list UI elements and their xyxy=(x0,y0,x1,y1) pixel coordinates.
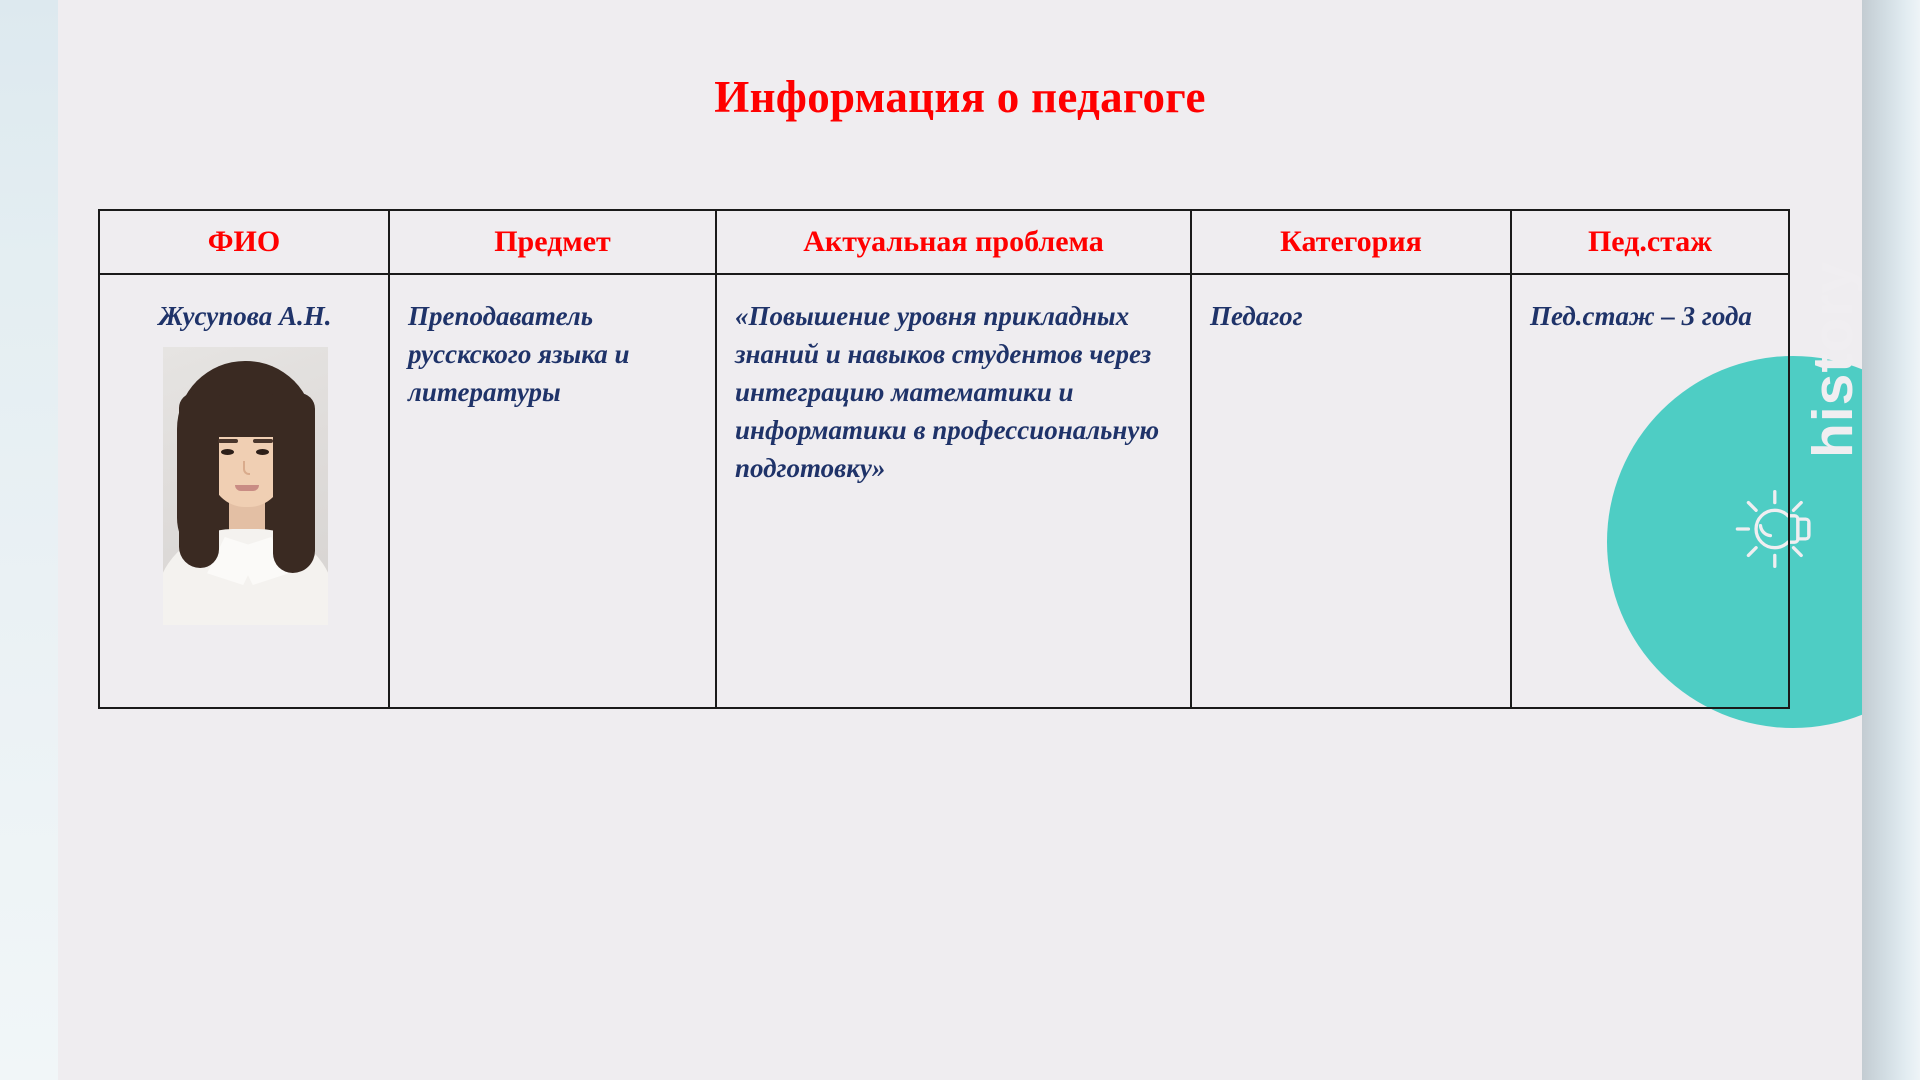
table-header-row: ФИО Предмет Актуальная проблема Категори… xyxy=(99,210,1789,274)
slide-root: history Информация о педагоге xyxy=(0,0,1920,1080)
table-row: Жусупова А.Н. xyxy=(99,274,1789,708)
decorative-right-gradient-band xyxy=(1862,0,1920,1080)
brand-label-history: history xyxy=(1803,158,1862,458)
cell-problem: «Повышение уровня прикладных знаний и на… xyxy=(716,274,1191,708)
cell-fio: Жусупова А.Н. xyxy=(99,274,389,708)
column-header-subject: Предмет xyxy=(389,210,716,274)
cell-category: Педагог xyxy=(1191,274,1511,708)
teacher-photo: Портрет педагога xyxy=(163,347,328,625)
page-title: Информация о педагоге xyxy=(58,70,1862,124)
slide-canvas: history Информация о педагоге xyxy=(58,0,1862,1080)
cell-subject: Преподаватель русскского языка и литерат… xyxy=(389,274,716,708)
teacher-info-table: ФИО Предмет Актуальная проблема Категори… xyxy=(98,209,1790,709)
cell-experience: Пед.стаж – 3 года xyxy=(1511,274,1789,708)
column-header-fio: ФИО xyxy=(99,210,389,274)
column-header-category: Категория xyxy=(1191,210,1511,274)
teacher-photo-alt: Портрет педагога xyxy=(245,347,246,348)
teacher-name: Жусупова А.Н. xyxy=(118,297,372,335)
column-header-experience: Пед.стаж xyxy=(1511,210,1789,274)
column-header-problem: Актуальная проблема xyxy=(716,210,1191,274)
decorative-left-gradient-band xyxy=(0,0,58,1080)
